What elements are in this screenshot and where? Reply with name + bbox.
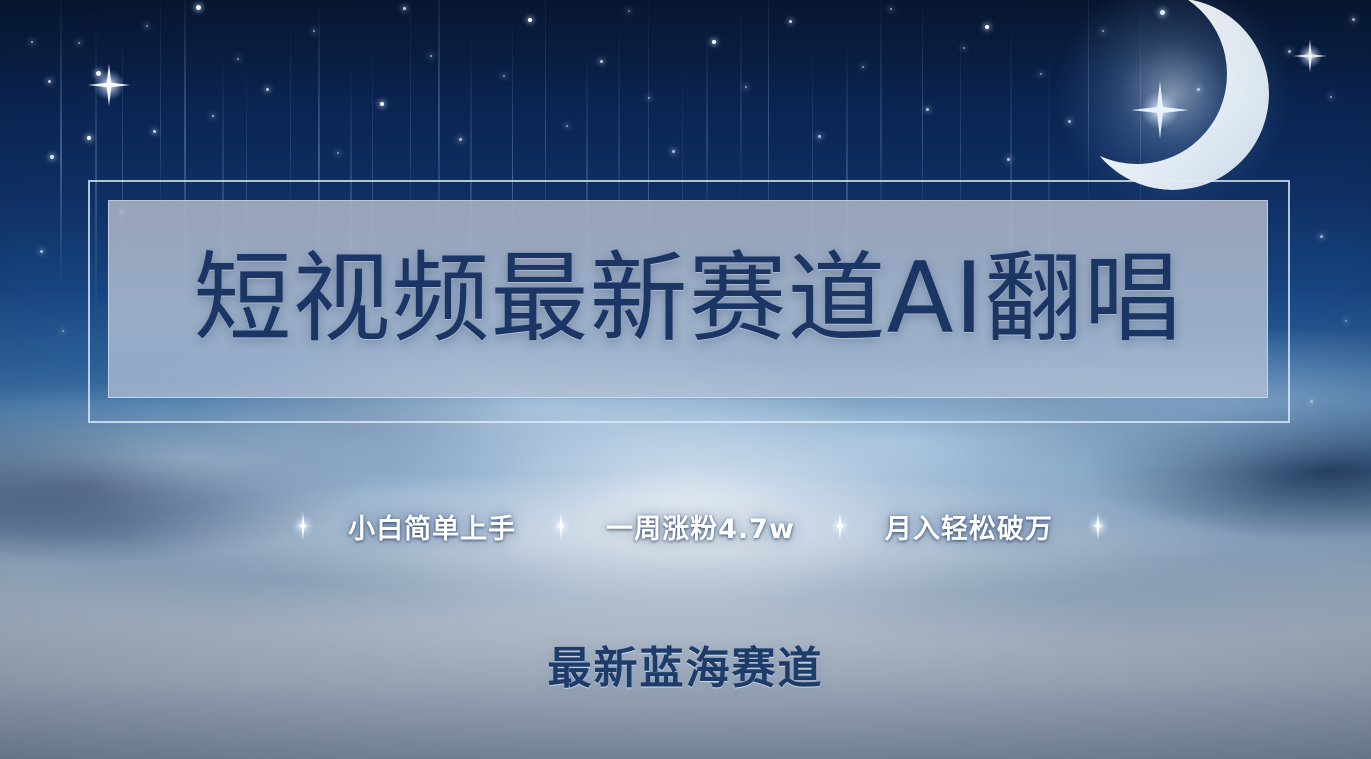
- poster-title: 短视频最新赛道AI翻唱: [108, 200, 1268, 398]
- feature-label-2: 月入轻松破万: [885, 507, 1053, 546]
- feature-label-0: 小白简单上手: [348, 507, 516, 546]
- poster-canvas: 短视频最新赛道AI翻唱 小白简单上手 一周涨粉4.7w 月入轻松破万: [0, 0, 1371, 759]
- sparkle-star-icon: [546, 511, 576, 541]
- sparkle-star-icon: [825, 511, 855, 541]
- sparkle-star-icon: [288, 511, 318, 541]
- sparkle-star-icon: [1083, 511, 1113, 541]
- poster-tagline: 最新蓝海赛道: [0, 632, 1371, 696]
- feature-label-1: 一周涨粉4.7w: [606, 507, 795, 546]
- feature-row: 小白简单上手 一周涨粉4.7w 月入轻松破万: [0, 500, 1371, 552]
